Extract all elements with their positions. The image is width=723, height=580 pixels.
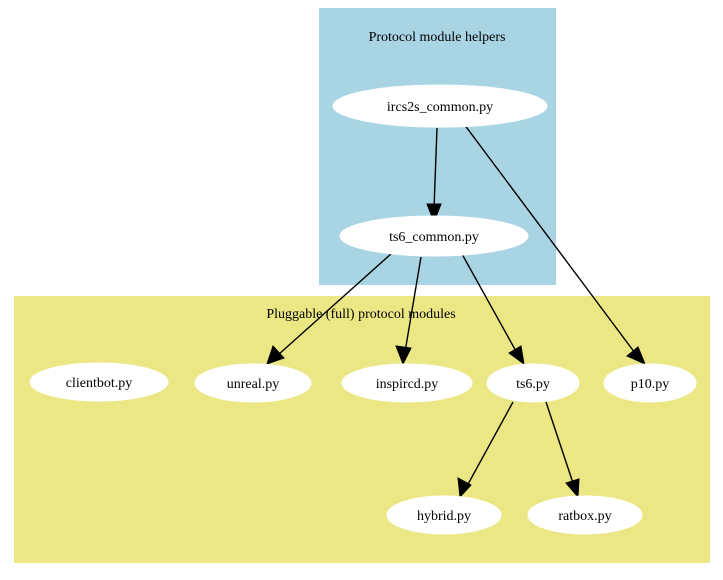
node-label: ts6.py	[516, 377, 550, 392]
node-label: ts6_common.py	[389, 230, 479, 245]
node-ircs2s_common[interactable]: ircs2s_common.py	[333, 85, 547, 127]
node-label: clientbot.py	[66, 376, 133, 391]
node-label: inspircd.py	[376, 377, 439, 392]
node-inspircd[interactable]: inspircd.py	[342, 364, 472, 402]
node-label: unreal.py	[227, 377, 279, 392]
node-ts6[interactable]: ts6.py	[487, 364, 579, 402]
node-ratbox[interactable]: ratbox.py	[528, 496, 642, 534]
cluster-helpers-label: Protocol module helpers	[369, 30, 506, 45]
node-p10[interactable]: p10.py	[604, 364, 696, 402]
node-label: ircs2s_common.py	[387, 100, 493, 115]
node-label: hybrid.py	[417, 509, 471, 524]
node-hybrid[interactable]: hybrid.py	[387, 496, 501, 534]
cluster-pluggable-label: Pluggable (full) protocol modules	[266, 307, 455, 322]
diagram-canvas: Protocol module helpers Pluggable (full)…	[0, 0, 723, 580]
node-ts6_common[interactable]: ts6_common.py	[340, 216, 528, 256]
node-label: ratbox.py	[558, 509, 611, 524]
node-clientbot[interactable]: clientbot.py	[30, 363, 168, 401]
node-unreal[interactable]: unreal.py	[195, 364, 311, 402]
dependency-graph: Protocol module helpers Pluggable (full)…	[0, 0, 723, 580]
node-label: p10.py	[631, 377, 670, 392]
